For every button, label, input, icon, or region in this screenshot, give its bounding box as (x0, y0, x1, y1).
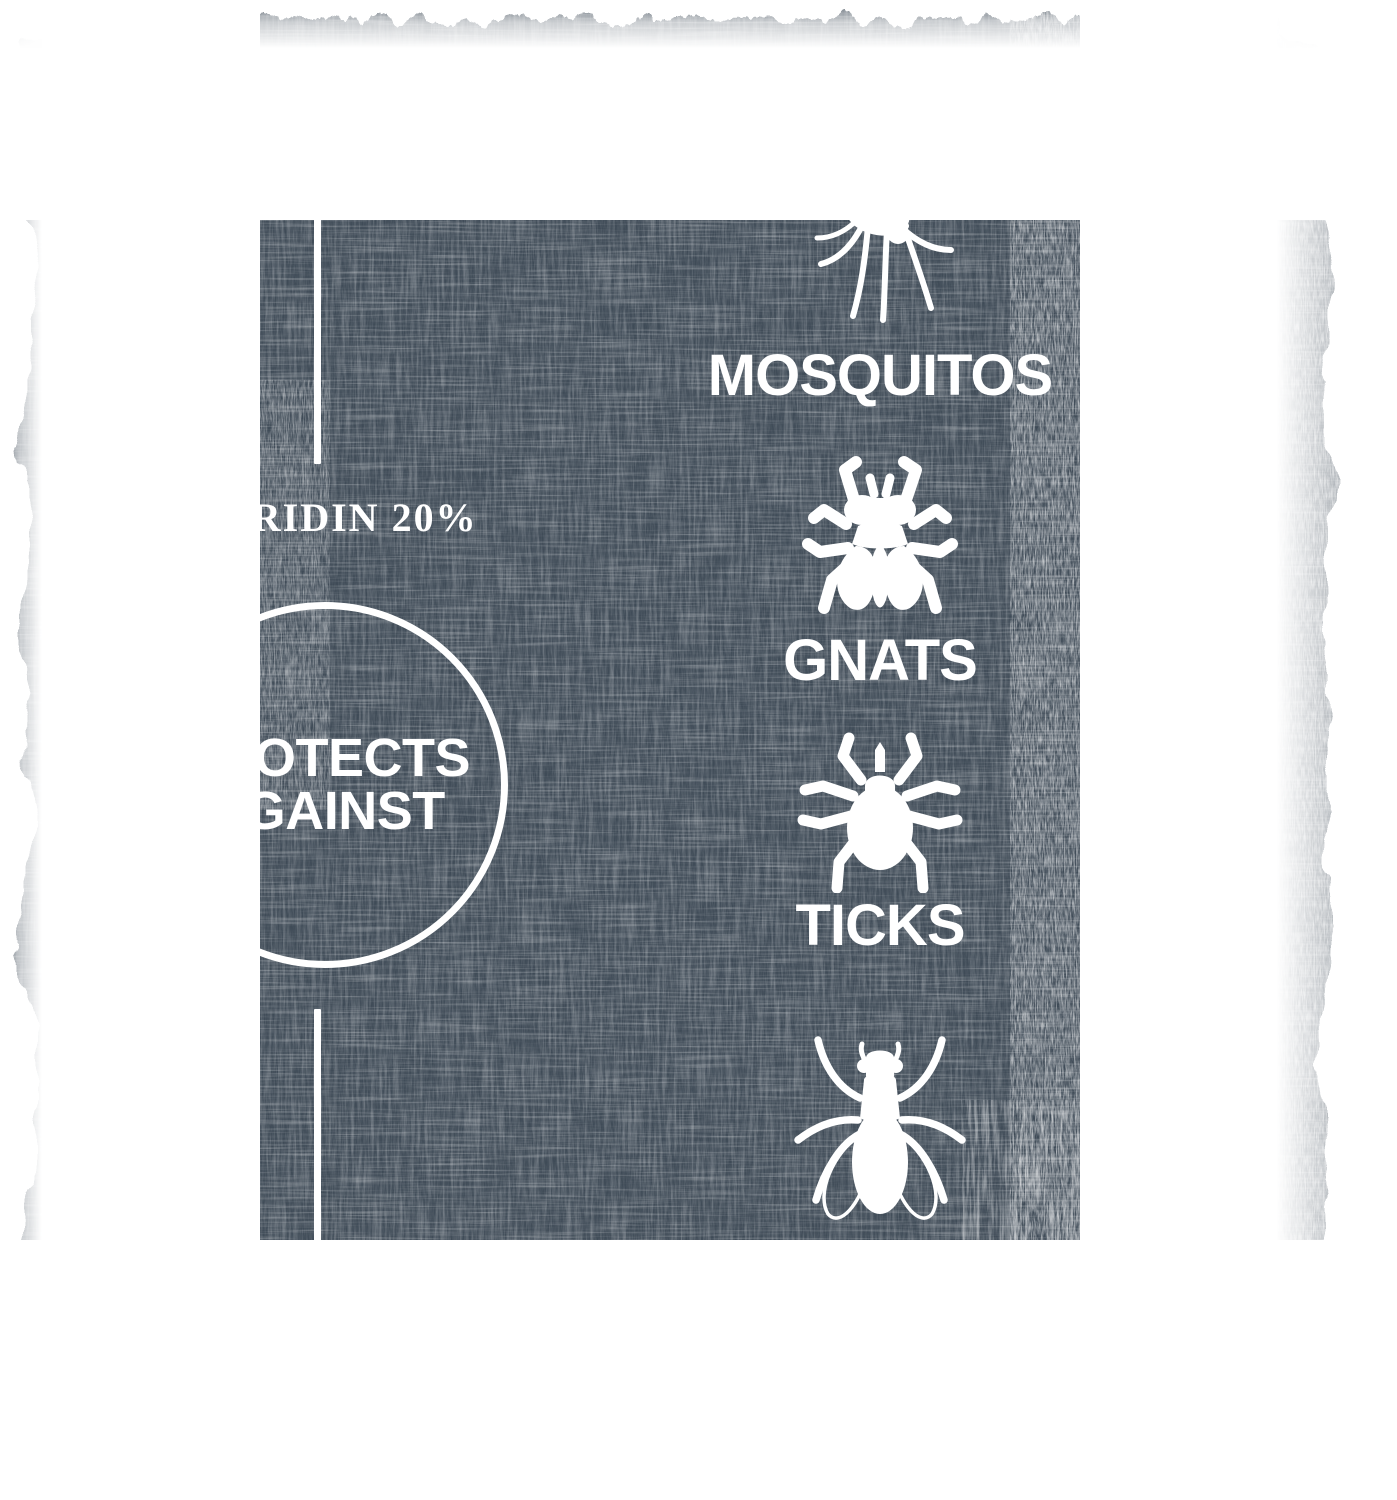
pest-label-mosquitos: MOSQUITOS (560, 347, 1200, 405)
mosquito-icon (765, 168, 995, 343)
active-ingredient-label: PICARIDIN 20% (146, 498, 478, 538)
pest-label-gnats: GNATS (560, 632, 1200, 690)
pest-list: MOSQUITOS (560, 0, 1200, 1500)
badge-line-1: PROTECTS (127, 732, 523, 785)
badge-text: PROTECTS AGAINST (127, 732, 523, 838)
divider-rule-top (314, 131, 321, 464)
gnat-icon (790, 448, 970, 628)
divider-rule-bottom (314, 1009, 321, 1289)
protects-against-badge: PROTECTS AGAINST (142, 602, 508, 968)
tick-icon (795, 728, 965, 893)
pest-item-gnats: GNATS (560, 448, 1200, 690)
pest-item-mosquitos: MOSQUITOS (560, 168, 1200, 405)
pest-label-biting-flies: BITING FLIES (560, 1246, 1200, 1304)
pest-item-ticks: TICKS (560, 728, 1200, 955)
pest-label-ticks: TICKS (560, 897, 1200, 955)
pest-item-biting-flies: BITING FLIES (560, 1022, 1200, 1304)
biting-fly-icon (780, 1022, 980, 1242)
product-infographic: PICARIDIN 20% PROTECTS AGAINST (0, 0, 1397, 1500)
badge-line-2: AGAINST (127, 785, 523, 838)
